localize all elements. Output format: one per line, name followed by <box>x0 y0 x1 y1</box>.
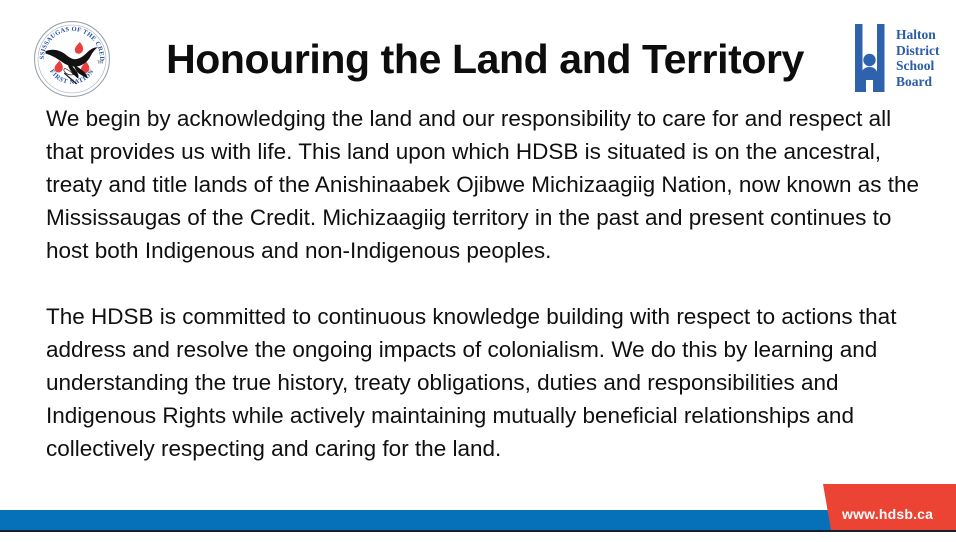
mississaugas-of-the-credit-first-nation-seal-icon: MISSISSAUGAS OF THE CREDIT FIRST NATION <box>33 20 111 98</box>
slide-canvas: MISSISSAUGAS OF THE CREDIT FIRST NATION <box>0 0 956 542</box>
paragraph-1: We begin by acknowledging the land and o… <box>46 102 926 267</box>
hdsb-wordmark-line-1: Halton <box>896 27 939 43</box>
hdsb-wordmark-line-2: District <box>896 43 939 59</box>
hdsb-figure-icon <box>852 24 892 92</box>
slide-footer: www.hdsb.ca <box>0 482 956 542</box>
footer-baseline-rule <box>0 530 956 532</box>
hdsb-wordmark-line-3: School <box>896 58 939 74</box>
slide-header: MISSISSAUGAS OF THE CREDIT FIRST NATION <box>0 0 956 100</box>
hdsb-wordmark: Halton District School Board <box>896 27 939 89</box>
hdsb-wordmark-line-4: Board <box>896 74 939 90</box>
svg-text:TM: TM <box>97 61 103 65</box>
website-url[interactable]: www.hdsb.ca <box>842 506 933 522</box>
footer-blue-bar <box>0 510 956 530</box>
page-title: Honouring the Land and Territory <box>140 28 830 90</box>
land-acknowledgement-body: We begin by acknowledging the land and o… <box>46 102 926 465</box>
halton-district-school-board-logo: Halton District School Board <box>852 22 948 96</box>
paragraph-2: The HDSB is committed to continuous know… <box>46 300 926 465</box>
